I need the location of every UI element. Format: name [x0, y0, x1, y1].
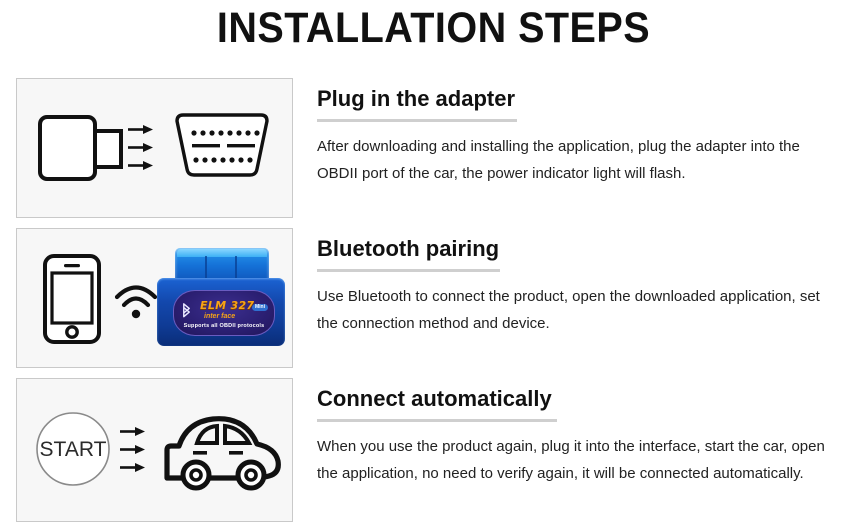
start-button-icon[interactable]: START — [33, 409, 113, 489]
step-text-column: Connect automatically When you use the p… — [317, 378, 847, 487]
step-row: ELM 327 Mini inter face Supports all OBD… — [0, 228, 867, 368]
step-body: Use Bluetooth to connect the product, op… — [317, 284, 842, 337]
device-connector-highlight — [177, 249, 267, 257]
arrows-icon — [128, 124, 160, 174]
illustration-start-to-car: START — [16, 378, 293, 522]
car-icon — [157, 403, 285, 498]
arrows-icon — [120, 426, 152, 476]
step-body: After downloading and installing the app… — [317, 134, 842, 187]
obd-adapter-icon — [37, 109, 127, 189]
heading-rule — [317, 119, 517, 122]
device-subtitle: inter face — [204, 313, 235, 320]
device-body: ELM 327 Mini inter face Supports all OBD… — [157, 278, 285, 346]
bluetooth-icon — [180, 303, 193, 323]
device-tagline: Supports all OBDII protocols — [180, 323, 268, 329]
heading-rule — [317, 269, 500, 272]
illustration-adapter-to-obdii — [16, 78, 293, 218]
step-heading: Bluetooth pairing — [317, 236, 499, 261]
step-text-column: Plug in the adapter After downloading an… — [317, 78, 847, 187]
smartphone-icon — [41, 253, 103, 345]
heading-rule — [317, 419, 557, 422]
step-heading: Plug in the adapter — [317, 86, 515, 111]
step-body: When you use the product again, plug it … — [317, 434, 842, 487]
step-heading: Connect automatically — [317, 386, 552, 411]
step-row: START — [0, 378, 867, 522]
start-button-label: START — [40, 438, 107, 461]
step-text-column: Bluetooth pairing Use Bluetooth to conne… — [317, 228, 847, 337]
step-row: Plug in the adapter After downloading an… — [0, 78, 867, 218]
device-brand: ELM 327 — [200, 299, 254, 312]
wifi-signal-icon — [113, 281, 159, 323]
device-badge: Mini — [252, 304, 268, 311]
elm327-device: ELM 327 Mini inter face Supports all OBD… — [157, 248, 285, 348]
illustration-phone-bluetooth-elm327: ELM 327 Mini inter face Supports all OBD… — [16, 228, 293, 368]
obdii-port-icon — [167, 111, 277, 186]
page-title: INSTALLATION STEPS — [35, 4, 833, 53]
device-label: ELM 327 Mini inter face Supports all OBD… — [173, 290, 275, 336]
